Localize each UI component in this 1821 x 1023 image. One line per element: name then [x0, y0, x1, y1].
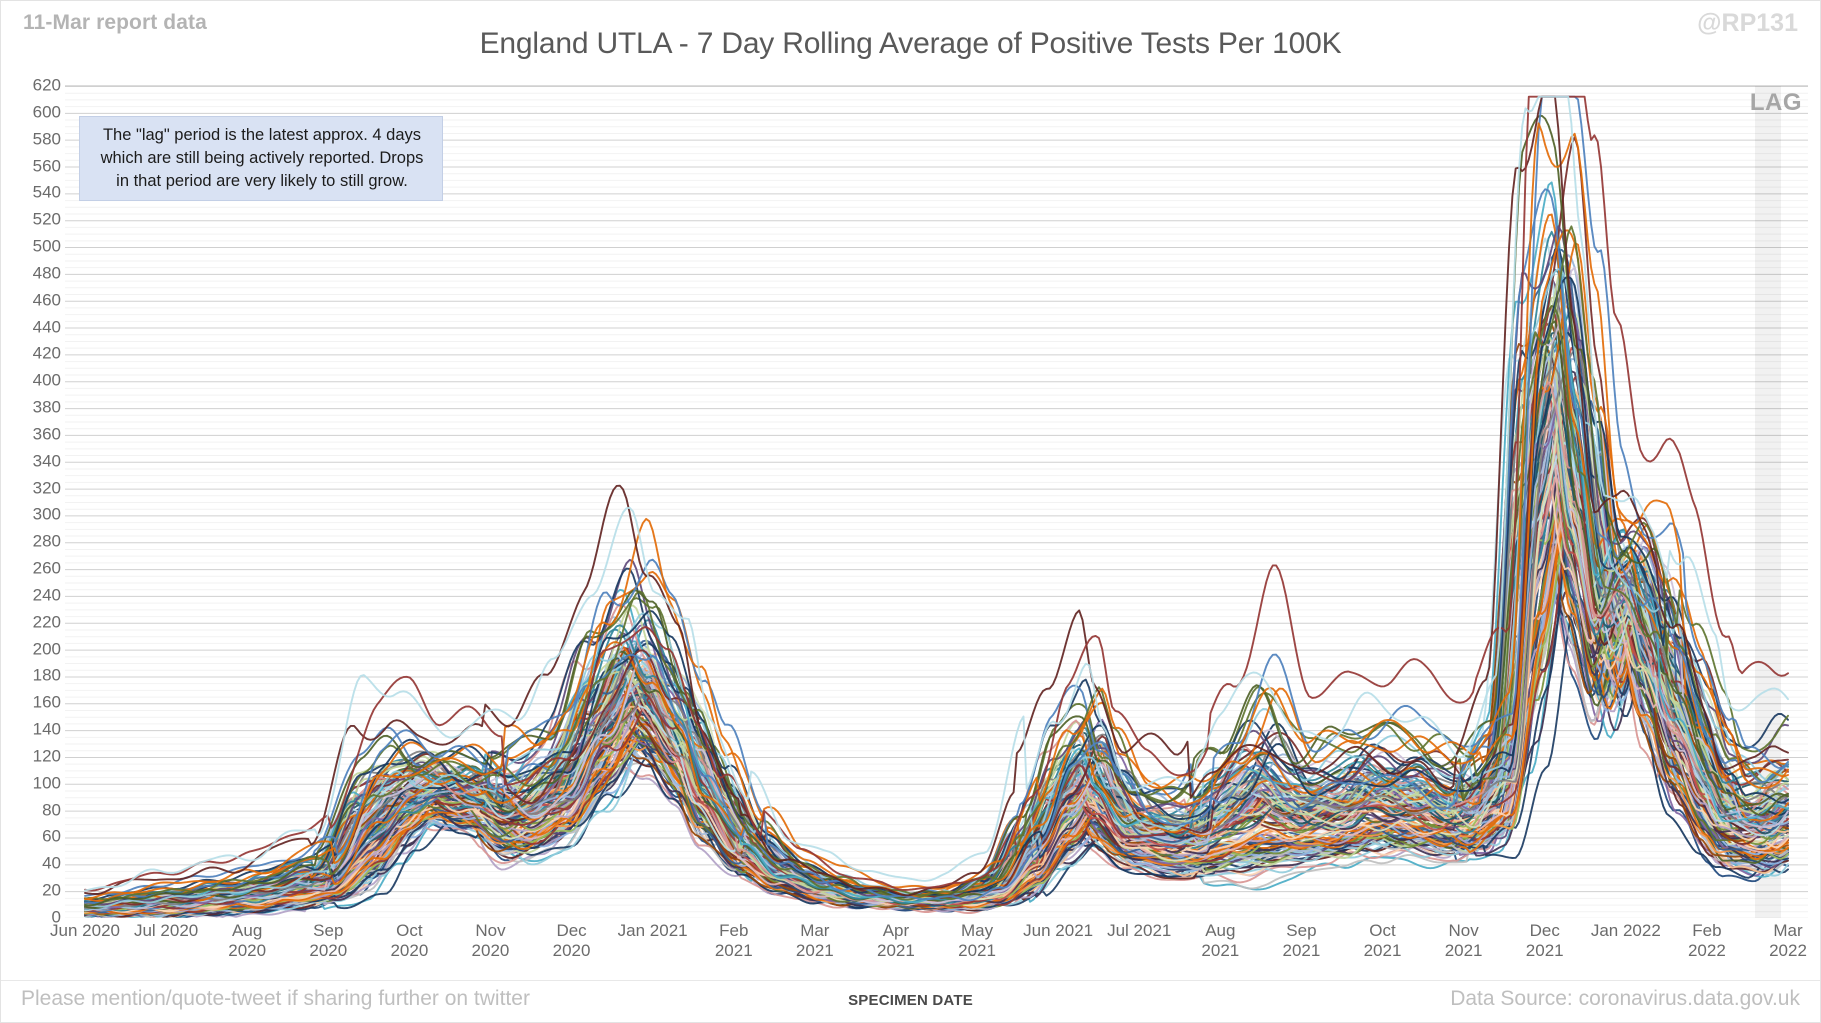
y-axis-tick: 580 [3, 130, 61, 147]
x-axis-tick: Nov2021 [1445, 921, 1483, 961]
y-axis-tick: 120 [3, 747, 61, 764]
y-axis: 6206005805605405205004804604404204003803… [1, 85, 61, 917]
x-axis-tick: Dec2020 [553, 921, 591, 961]
x-axis-tick: Jun 2021 [1023, 921, 1093, 941]
footer-data-source: Data Source: coronavirus.data.gov.uk [1450, 987, 1800, 1011]
x-axis-tick: Aug2020 [228, 921, 266, 961]
lag-annotation-box: The "lag" period is the latest approx. 4… [79, 116, 443, 201]
y-axis-tick: 360 [3, 425, 61, 442]
y-axis-tick: 300 [3, 506, 61, 523]
x-axis-tick: Sep2020 [309, 921, 347, 961]
y-axis-tick: 400 [3, 372, 61, 389]
y-axis-tick: 140 [3, 721, 61, 738]
y-axis-tick: 240 [3, 586, 61, 603]
x-axis-tick: Feb2021 [715, 921, 753, 961]
y-axis-tick: 500 [3, 238, 61, 255]
x-axis-tick: Mar2021 [796, 921, 834, 961]
y-axis-tick: 160 [3, 694, 61, 711]
y-axis-tick: 180 [3, 667, 61, 684]
footer: Please mention/quote-tweet if sharing fu… [1, 980, 1820, 1022]
y-axis-tick: 520 [3, 211, 61, 228]
y-axis-tick: 60 [3, 828, 61, 845]
author-handle: @RP131 [1697, 9, 1798, 38]
y-axis-tick: 380 [3, 399, 61, 416]
x-axis-tick: Jan 2021 [618, 921, 688, 941]
spaghetti-line-chart [65, 86, 1808, 918]
x-axis-tick: Jun 2020 [50, 921, 120, 941]
x-axis-tick: Feb2022 [1688, 921, 1726, 961]
x-axis-tick: May2021 [958, 921, 996, 961]
y-axis-tick: 80 [3, 801, 61, 818]
y-axis-tick: 540 [3, 184, 61, 201]
x-axis-tick: Apr2021 [877, 921, 915, 961]
y-axis-tick: 100 [3, 774, 61, 791]
x-axis-tick: Jan 2022 [1591, 921, 1661, 941]
page-title: England UTLA - 7 Day Rolling Average of … [1, 27, 1820, 61]
y-axis-tick: 20 [3, 882, 61, 899]
y-axis-tick: 220 [3, 613, 61, 630]
x-axis-tick: Jul 2021 [1107, 921, 1171, 941]
y-axis-tick: 600 [3, 103, 61, 120]
x-axis-tick: Jul 2020 [134, 921, 198, 941]
y-axis-tick: 420 [3, 345, 61, 362]
y-axis-tick: 460 [3, 291, 61, 308]
x-axis-tick: Mar2022 [1769, 921, 1807, 961]
y-axis-tick: 560 [3, 157, 61, 174]
y-axis-tick: 620 [3, 77, 61, 94]
y-axis-tick: 280 [3, 533, 61, 550]
x-axis-tick: Dec2021 [1526, 921, 1564, 961]
y-axis-tick: 320 [3, 479, 61, 496]
x-axis-tick: Nov2020 [472, 921, 510, 961]
x-axis-tick: Aug2021 [1201, 921, 1239, 961]
y-axis-tick: 40 [3, 855, 61, 872]
y-axis-tick: 440 [3, 318, 61, 335]
lag-label: LAG [1750, 89, 1802, 117]
y-axis-tick: 200 [3, 640, 61, 657]
y-axis-tick: 480 [3, 264, 61, 281]
plot-area [65, 85, 1808, 917]
chart-frame: 11-Mar report data England UTLA - 7 Day … [0, 0, 1821, 1023]
y-axis-tick: 260 [3, 560, 61, 577]
y-axis-tick: 340 [3, 452, 61, 469]
x-axis: Jun 2020Jul 2020Aug2020Sep2020Oct2020Nov… [65, 921, 1808, 983]
x-axis-tick: Oct2020 [390, 921, 428, 961]
series-lines [85, 97, 1788, 917]
x-axis-tick: Sep2021 [1283, 921, 1321, 961]
x-axis-tick: Oct2021 [1364, 921, 1402, 961]
